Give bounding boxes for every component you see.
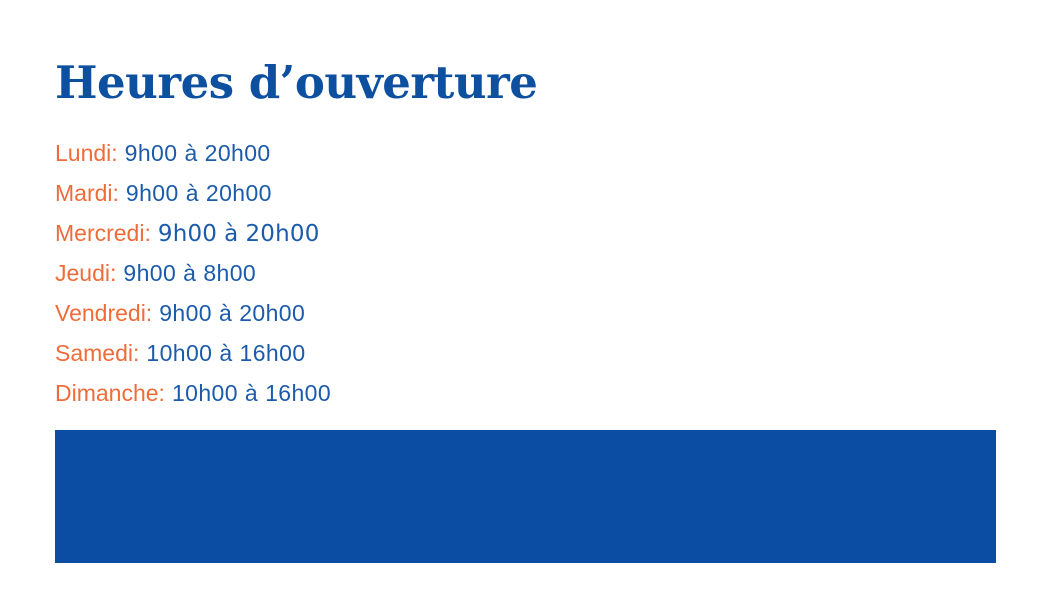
open-time: 10h00 <box>146 340 212 366</box>
time-separator: à <box>245 380 258 406</box>
close-time: 20h00 <box>245 221 319 247</box>
day-label: Mercredi: <box>55 220 151 246</box>
close-time: 8h00 <box>203 260 256 286</box>
close-time: 20h00 <box>205 140 271 166</box>
opening-hours-list: Lundi:9h00à20h00 Mardi:9h00à20h00 Mercre… <box>55 133 331 413</box>
open-time: 9h00 <box>159 300 212 326</box>
list-item: Lundi:9h00à20h00 <box>55 133 331 173</box>
time-separator: à <box>186 180 199 206</box>
close-time: 16h00 <box>240 340 306 366</box>
close-time: 16h00 <box>265 380 331 406</box>
list-item: Samedi:10h00à16h00 <box>55 333 331 373</box>
day-label: Vendredi: <box>55 300 152 326</box>
list-item: Dimanche:10h00à16h00 <box>55 373 331 413</box>
list-item: Jeudi:9h00à8h00 <box>55 253 331 293</box>
time-separator: à <box>183 260 196 286</box>
time-separator: à <box>224 221 238 247</box>
day-label: Jeudi: <box>55 260 116 286</box>
open-time: 9h00 <box>123 260 176 286</box>
day-label: Lundi: <box>55 140 118 166</box>
open-time: 9h00 <box>125 140 178 166</box>
footer-banner <box>55 430 996 563</box>
close-time: 20h00 <box>206 180 272 206</box>
time-separator: à <box>219 300 232 326</box>
time-separator: à <box>219 340 232 366</box>
list-item: Mardi:9h00à20h00 <box>55 173 331 213</box>
open-time: 9h00 <box>126 180 179 206</box>
day-label: Samedi: <box>55 340 139 366</box>
slide-canvas: Heures d’ouverture Lundi:9h00à20h00 Mard… <box>0 0 1050 600</box>
open-time: 9h00 <box>158 221 217 247</box>
page-title: Heures d’ouverture <box>55 57 537 109</box>
list-item: Mercredi:9h00à20h00 <box>55 213 331 253</box>
day-label: Mardi: <box>55 180 119 206</box>
time-separator: à <box>184 140 197 166</box>
open-time: 10h00 <box>172 380 238 406</box>
list-item: Vendredi:9h00à20h00 <box>55 293 331 333</box>
close-time: 20h00 <box>239 300 305 326</box>
day-label: Dimanche: <box>55 380 165 406</box>
